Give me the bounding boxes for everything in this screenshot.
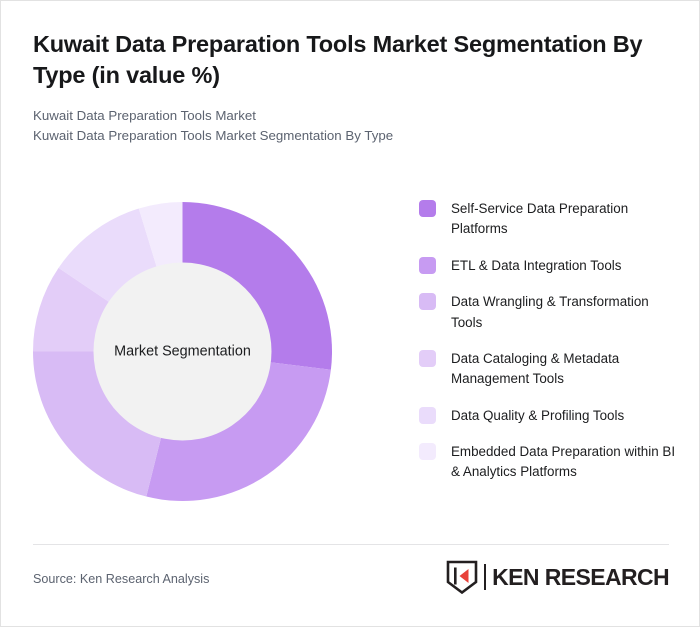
legend-swatch-icon (419, 443, 436, 460)
page-title: Kuwait Data Preparation Tools Market Seg… (33, 29, 663, 92)
legend-item-label: Embedded Data Preparation within BI & An… (451, 442, 676, 483)
footer-divider (33, 544, 669, 545)
ken-research-logo: KEN RESEARCH (445, 560, 669, 594)
logo-divider (484, 564, 486, 590)
chart-page: Kuwait Data Preparation Tools Market Seg… (0, 0, 700, 627)
donut-center-label: Market Segmentation (114, 344, 251, 360)
chart-body: Market Segmentation Self-Service Data Pr… (1, 181, 700, 531)
subtitle-market: Kuwait Data Preparation Tools Market (33, 106, 669, 127)
donut-svg: Market Segmentation (33, 202, 332, 501)
legend-swatch-icon (419, 350, 436, 367)
legend-item-label: Self-Service Data Preparation Platforms (451, 199, 676, 240)
legend-item-label: Data Wrangling & Transformation Tools (451, 292, 676, 333)
legend-item-label: ETL & Data Integration Tools (451, 256, 621, 276)
legend-item-label: Data Cataloging & Metadata Management To… (451, 349, 676, 390)
legend-item[interactable]: Self-Service Data Preparation Platforms (419, 199, 677, 240)
donut-chart: Market Segmentation (33, 202, 332, 501)
chart-header: Kuwait Data Preparation Tools Market Seg… (33, 29, 669, 147)
legend-item[interactable]: Data Cataloging & Metadata Management To… (419, 349, 677, 390)
legend-swatch-icon (419, 293, 436, 310)
source-note: Source: Ken Research Analysis (33, 572, 209, 586)
legend-item-label: Data Quality & Profiling Tools (451, 406, 624, 426)
legend-item[interactable]: Embedded Data Preparation within BI & An… (419, 442, 677, 483)
legend-item[interactable]: Data Quality & Profiling Tools (419, 406, 677, 426)
legend-item[interactable]: ETL & Data Integration Tools (419, 256, 677, 276)
legend-swatch-icon (419, 200, 436, 217)
subtitle-segmentation: Kuwait Data Preparation Tools Market Seg… (33, 126, 669, 147)
subtitle-block: Kuwait Data Preparation Tools Market Kuw… (33, 106, 669, 147)
legend-swatch-icon (419, 407, 436, 424)
legend-item[interactable]: Data Wrangling & Transformation Tools (419, 292, 677, 333)
legend-swatch-icon (419, 257, 436, 274)
brand-name: KEN RESEARCH (492, 564, 669, 591)
chart-legend: Self-Service Data Preparation PlatformsE… (419, 199, 677, 483)
ken-research-shield-icon (445, 560, 479, 594)
